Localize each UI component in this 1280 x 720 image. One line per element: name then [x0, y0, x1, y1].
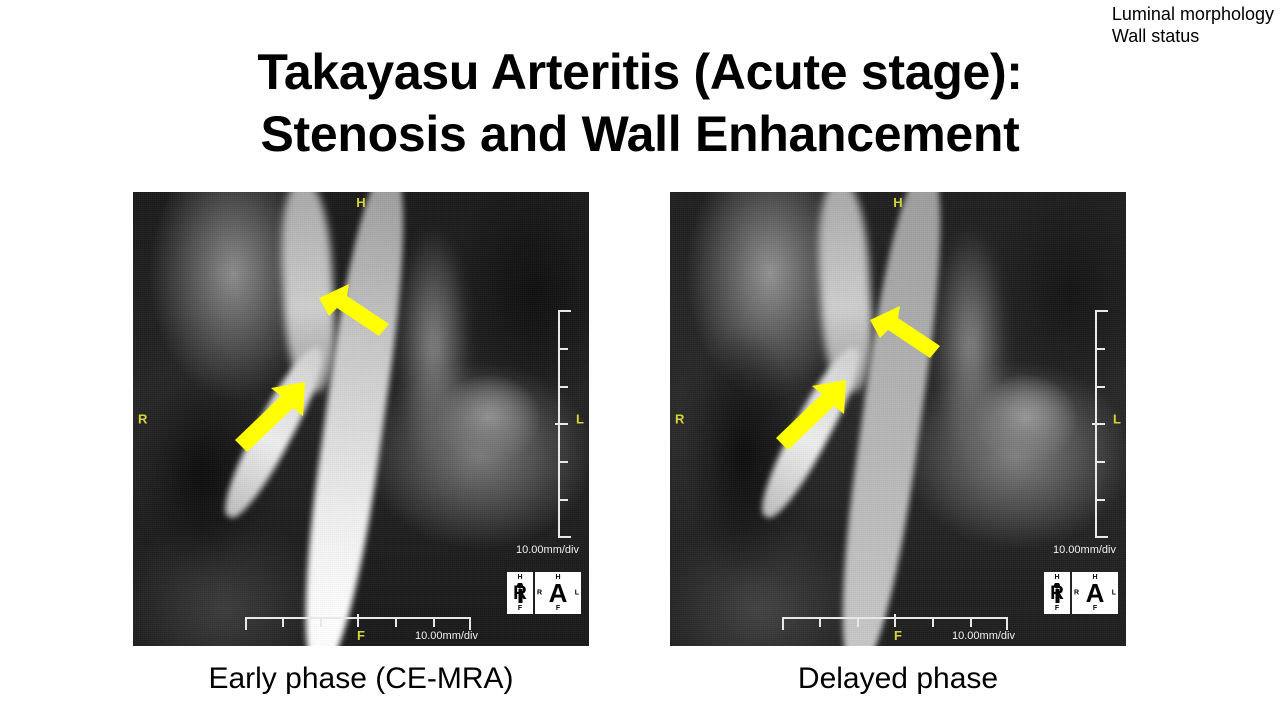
slide-title-line-2: Stenosis and Wall Enhancement [0, 104, 1280, 166]
mri-image-delayed-phase [670, 192, 1126, 646]
mri-noise-texture [670, 192, 1126, 646]
mri-panel-delayed-phase[interactable]: H R L F 10.00mm/div [670, 192, 1126, 646]
mri-panel-early-phase[interactable]: H R L F 10.00mm/div [133, 192, 589, 646]
caption-delayed-phase: Delayed phase [670, 662, 1126, 696]
mri-image-early-phase [133, 192, 589, 646]
slide-canvas: Luminal morphology Wall status Takayasu … [0, 0, 1280, 720]
mri-noise-texture [133, 192, 589, 646]
corner-annotation-line-1: Luminal morphology [1112, 4, 1274, 26]
slide-title-line-1: Takayasu Arteritis (Acute stage): [257, 44, 1022, 100]
caption-early-phase: Early phase (CE-MRA) [133, 662, 589, 696]
slide-title: Takayasu Arteritis (Acute stage): Stenos… [0, 42, 1280, 165]
